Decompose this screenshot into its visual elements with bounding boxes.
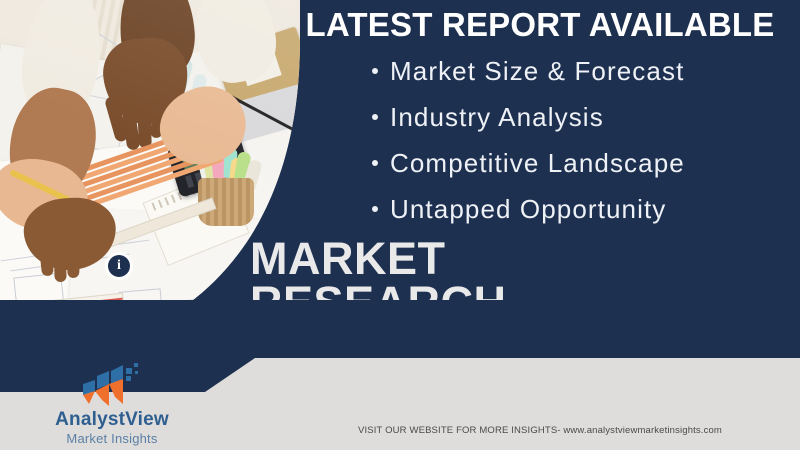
info-icon[interactable]: i [108, 255, 130, 277]
brand-logo[interactable]: AnalystView Market Insights [12, 360, 212, 446]
list-item-label: Untapped Opportunity [390, 196, 666, 222]
logo-subtitle: Market Insights [12, 431, 212, 446]
bullet-icon [372, 206, 378, 212]
chart-arrow-logo-icon [79, 360, 145, 408]
list-item-label: Competitive Landscape [390, 150, 685, 176]
logo-wordmark: AnalystView [12, 410, 212, 430]
bullet-icon [372, 160, 378, 166]
report-title-line-1: MARKET [250, 237, 770, 281]
list-item: Industry Analysis [372, 104, 792, 130]
bullet-icon [372, 68, 378, 74]
list-item: Untapped Opportunity [372, 196, 792, 222]
list-item-label: Market Size & Forecast [390, 58, 684, 84]
page-title: LATEST REPORT AVAILABLE [290, 6, 790, 44]
list-item: Market Size & Forecast [372, 58, 792, 84]
feature-list: Market Size & Forecast Industry Analysis… [372, 58, 792, 242]
logo-name-part2: View [125, 409, 169, 430]
logo-name-part1: Analyst [55, 409, 125, 430]
list-item: Competitive Landscape [372, 150, 792, 176]
bullet-icon [372, 114, 378, 120]
list-item-label: Industry Analysis [390, 104, 604, 130]
footer-website-note[interactable]: VISIT OUR WEBSITE FOR MORE INSIGHTS- www… [300, 425, 780, 436]
report-poster: i LATEST REPORT AVAILABLE Market Size & … [0, 0, 800, 450]
